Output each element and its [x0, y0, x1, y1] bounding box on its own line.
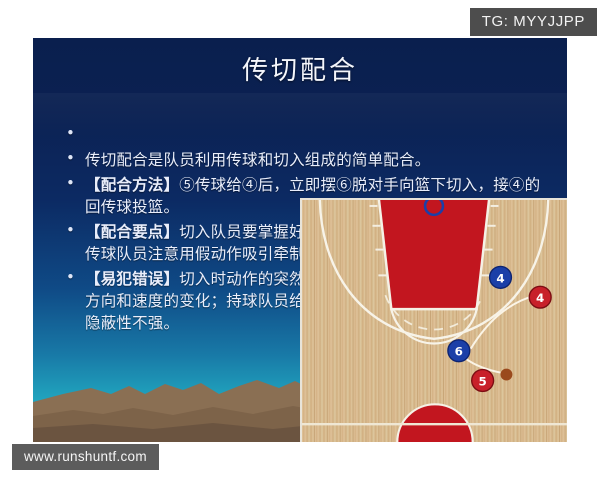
svg-text:4: 4	[496, 271, 504, 285]
telegram-watermark-badge: TG: MYYJJPP	[470, 8, 597, 36]
svg-text:5: 5	[478, 374, 486, 388]
basketball-icon	[501, 369, 513, 381]
screenshot-root: TG: MYYJJPP 传切配合 传切配合是队员利用传球和切入组成的简单配合。 …	[0, 0, 600, 480]
svg-text:6: 6	[455, 345, 463, 359]
basketball-court-diagram: 4 4 6 5	[300, 198, 567, 442]
bullet-item: 传切配合是队员利用传球和切入组成的简单配合。	[63, 149, 553, 171]
player-marker-defense-4: 4	[490, 266, 512, 288]
bullet-item	[63, 126, 553, 143]
court-svg: 4 4 6 5	[302, 200, 567, 442]
svg-text:4: 4	[536, 291, 544, 305]
player-marker-offense-4: 4	[529, 286, 551, 308]
player-marker-offense-5: 5	[472, 370, 494, 392]
site-url-watermark: www.runshuntf.com	[12, 444, 159, 470]
player-marker-defense-6: 6	[448, 340, 470, 362]
presentation-slide: 传切配合 传切配合是队员利用传球和切入组成的简单配合。 【配合方法】⑤传球给④后…	[33, 38, 567, 442]
slide-title: 传切配合	[33, 50, 567, 87]
